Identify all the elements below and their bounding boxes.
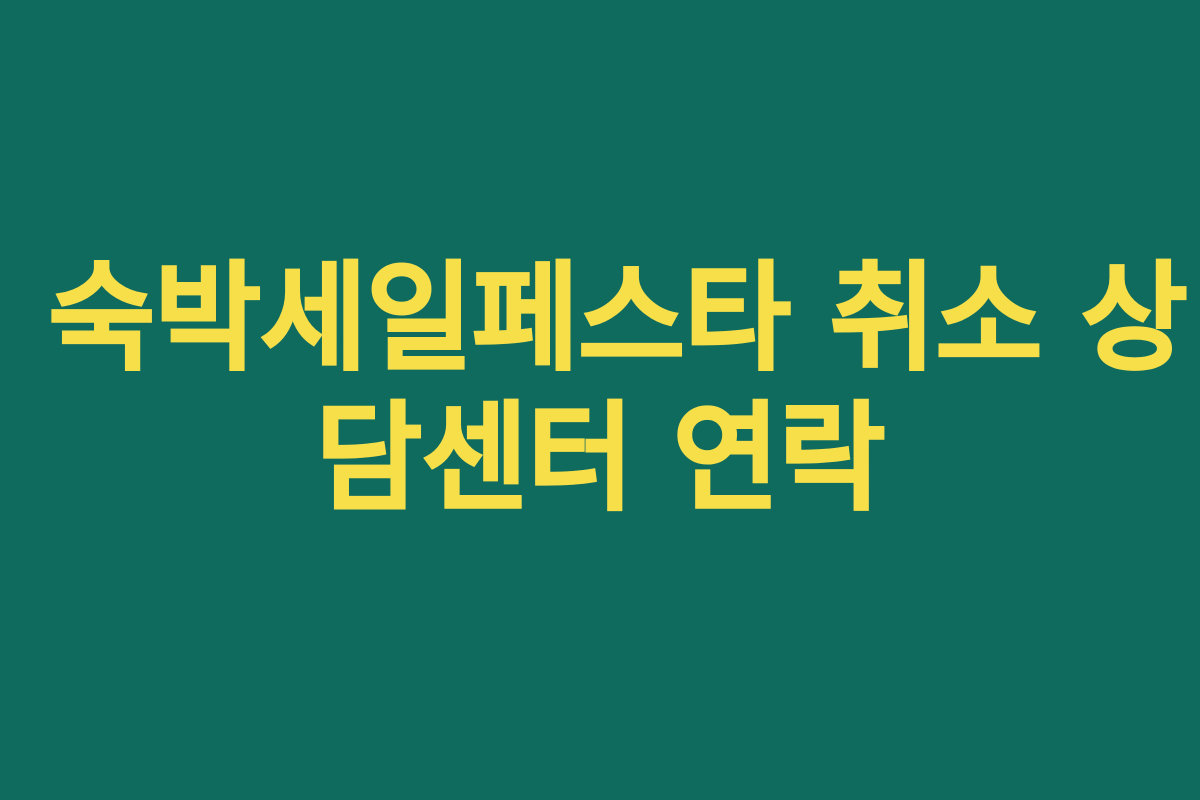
headline-line-2: 담센터 연락 bbox=[48, 388, 1151, 528]
headline-block: 숙박세일페스타 취소 상 담센터 연락 bbox=[0, 0, 1200, 788]
headline-line-1: 숙박세일페스타 취소 상 bbox=[48, 248, 1151, 388]
banner-canvas: 숙박세일페스타 취소 상 담센터 연락 bbox=[0, 0, 1200, 800]
